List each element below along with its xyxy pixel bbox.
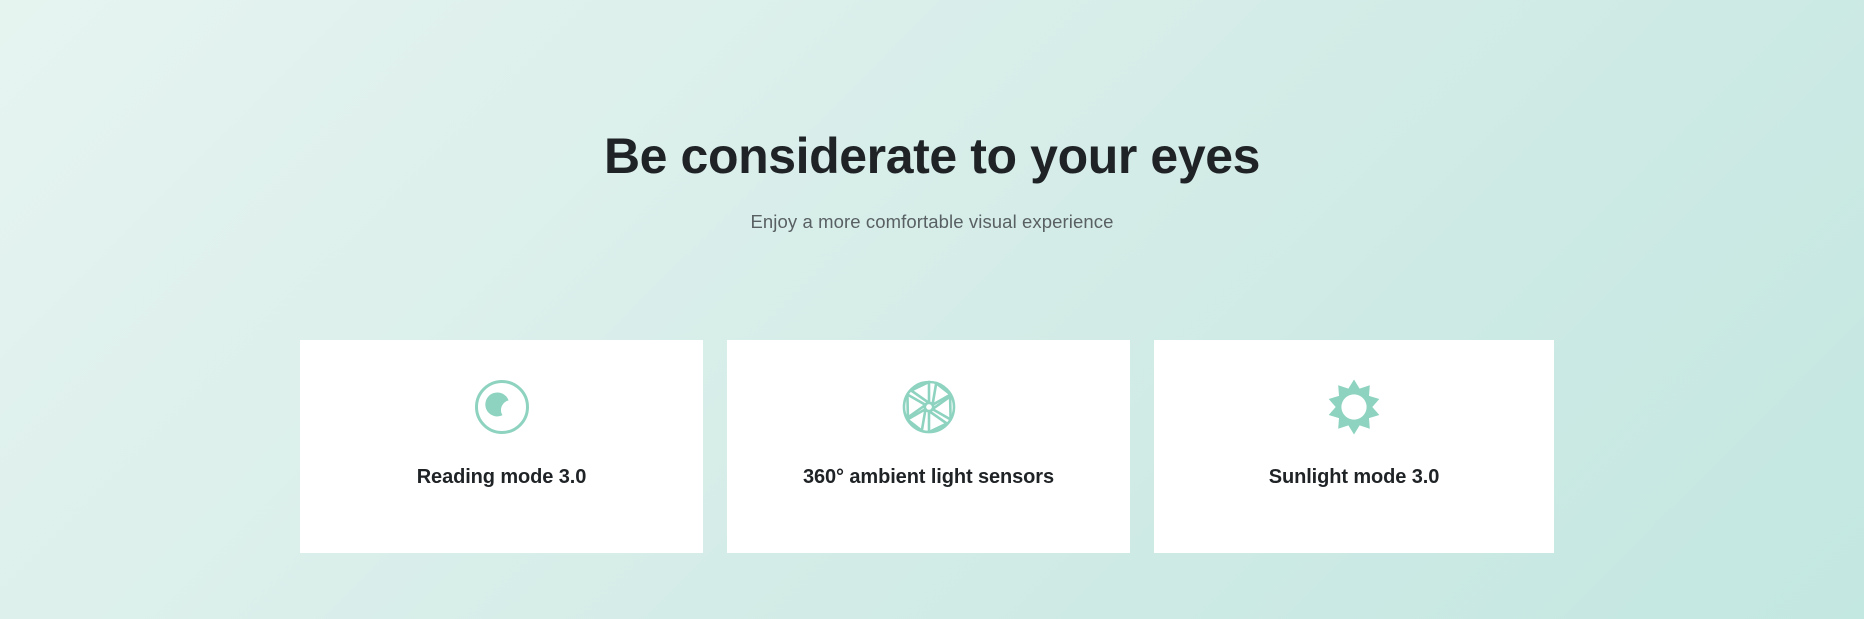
feature-card-label: Sunlight mode 3.0 xyxy=(1269,466,1440,489)
feature-card-reading-mode[interactable]: Reading mode 3.0 xyxy=(300,340,703,553)
page-title: Be considerate to your eyes xyxy=(0,0,1864,184)
eye-comfort-hero-section: Be considerate to your eyes Enjoy a more… xyxy=(0,0,1864,619)
feature-card-ambient-light-sensors[interactable]: 360° ambient light sensors xyxy=(727,340,1130,553)
camera-aperture-icon xyxy=(900,378,958,436)
heading-block: Be considerate to your eyes Enjoy a more… xyxy=(0,0,1864,233)
page-subtitle: Enjoy a more comfortable visual experien… xyxy=(0,184,1864,233)
crescent-moon-in-circle-icon xyxy=(473,378,531,436)
feature-card-sunlight-mode[interactable]: Sunlight mode 3.0 xyxy=(1154,340,1554,553)
feature-card-label: 360° ambient light sensors xyxy=(803,466,1054,489)
feature-card-label: Reading mode 3.0 xyxy=(417,466,587,489)
sun-burst-icon xyxy=(1325,378,1383,436)
feature-card-row: Reading mode 3.0 360 xyxy=(300,340,1554,553)
